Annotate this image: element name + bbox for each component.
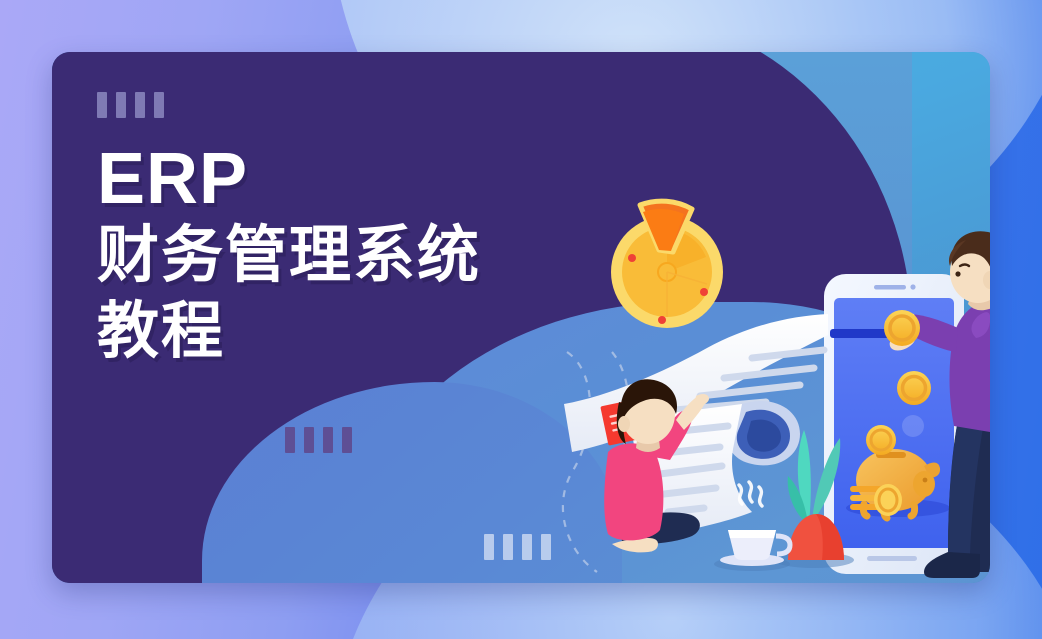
dash-mark [135,92,145,118]
dash-group-top-left [97,92,164,118]
poster-canvas: ERP 财务管理系统 教程 [0,0,1042,639]
dash-mark [484,534,494,560]
dash-mark [285,427,295,453]
dash-mark [323,427,333,453]
poster-headline: ERP 财务管理系统 教程 [97,140,481,370]
dash-group-middle [285,427,352,453]
dash-mark [541,534,551,560]
dash-mark [154,92,164,118]
dash-mark [342,427,352,453]
dash-mark [522,534,532,560]
title-line-one: 财务管理系统 [97,218,481,294]
dash-mark [503,534,513,560]
title-erp: ERP [97,140,481,218]
title-line-two: 教程 [97,294,481,370]
pie-chart-icon [611,201,723,328]
dash-mark [304,427,314,453]
dash-mark [116,92,126,118]
dash-group-bottom [484,534,551,560]
poster-card: ERP 财务管理系统 教程 [52,52,990,583]
dash-mark [97,92,107,118]
